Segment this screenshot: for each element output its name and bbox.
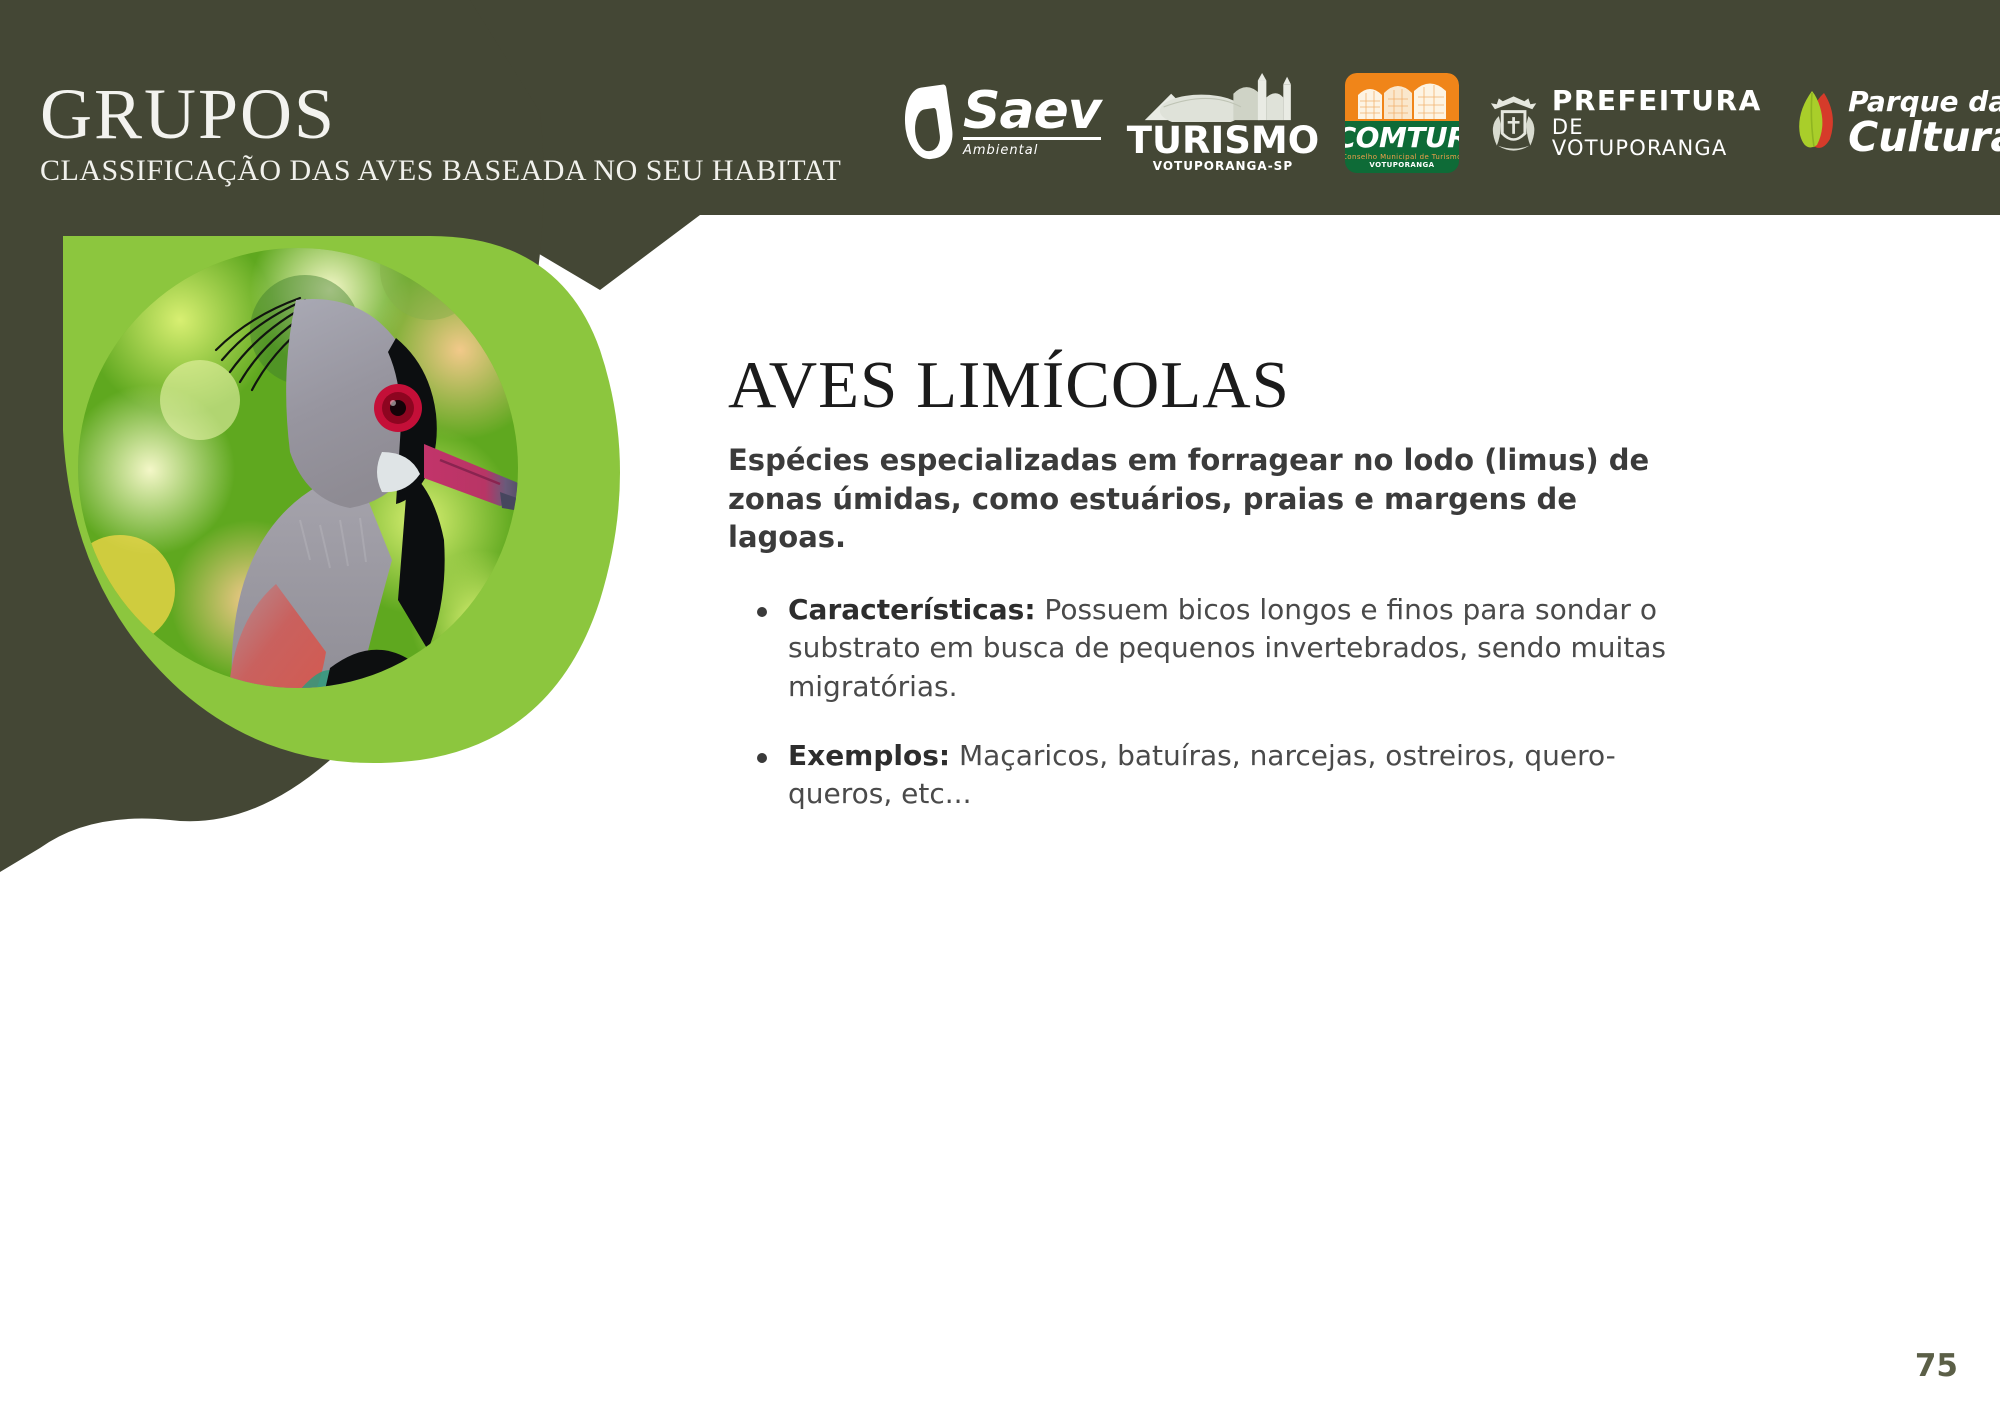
parque-da-cultura-logo: Parque da Cultura — [1790, 73, 2000, 173]
page-title: GRUPOS — [40, 80, 841, 148]
parque-wordmark-bottom: Cultura — [1848, 117, 2000, 158]
section-lead-paragraph: Espécies especializadas em forragear no … — [728, 441, 1678, 557]
main-content-column: AVES LIMÍCOLAS Espécies especializadas e… — [728, 352, 1728, 844]
coat-of-arms-icon — [1485, 90, 1542, 156]
prefeitura-votuporanga-logo: PREFEITURA DE VOTUPORANGA — [1485, 73, 1765, 173]
page-subtitle: CLASSIFICAÇÃO DAS AVES BASEADA NO SEU HA… — [40, 154, 841, 188]
turismo-wordmark: TURISMO — [1127, 122, 1319, 159]
water-drop-icon — [900, 84, 956, 162]
turismo-votuporanga-logo: TURISMO VOTUPORANGA-SP — [1127, 73, 1319, 173]
turismo-tagline: VOTUPORANGA-SP — [1153, 159, 1293, 173]
pavilion-arch-icon — [1345, 73, 1458, 121]
comtur-logo: COMTUR Conselho Municipal de Turismo VOT… — [1345, 73, 1458, 173]
pavilion-church-icon — [1138, 73, 1308, 122]
prefeitura-tagline: DE VOTUPORANGA — [1552, 117, 1764, 159]
comtur-city: VOTUPORANGA — [1369, 161, 1434, 169]
list-item: Características: Possuem bicos longos e … — [788, 591, 1668, 707]
partner-logo-row: Saev Ambiental TURISMO VOTUPORANGA-SP — [905, 68, 2000, 178]
comtur-tagline: Conselho Municipal de Turismo — [1345, 153, 1458, 161]
bullet-label: Características: — [788, 593, 1036, 626]
page-number: 75 — [1915, 1348, 1958, 1384]
saev-tagline: Ambiental — [963, 143, 1038, 158]
saev-ambiental-logo: Saev Ambiental — [905, 73, 1101, 173]
header-title-block: GRUPOS CLASSIFICAÇÃO DAS AVES BASEADA NO… — [40, 80, 841, 188]
parque-wordmark-top: Parque da — [1848, 88, 2000, 116]
bullet-list: Características: Possuem bicos longos e … — [728, 591, 1728, 814]
leaf-icon — [1790, 89, 1840, 157]
slide-root: GRUPOS CLASSIFICAÇÃO DAS AVES BASEADA NO… — [0, 0, 2000, 1414]
saev-wordmark: Saev — [963, 88, 1101, 140]
comtur-wordmark: COMTUR — [1345, 124, 1458, 152]
section-heading: AVES LIMÍCOLAS — [728, 352, 1728, 419]
bullet-label: Exemplos: — [788, 739, 950, 772]
prefeitura-wordmark: PREFEITURA — [1552, 87, 1764, 115]
list-item: Exemplos: Maçaricos, batuíras, narcejas,… — [788, 737, 1668, 814]
